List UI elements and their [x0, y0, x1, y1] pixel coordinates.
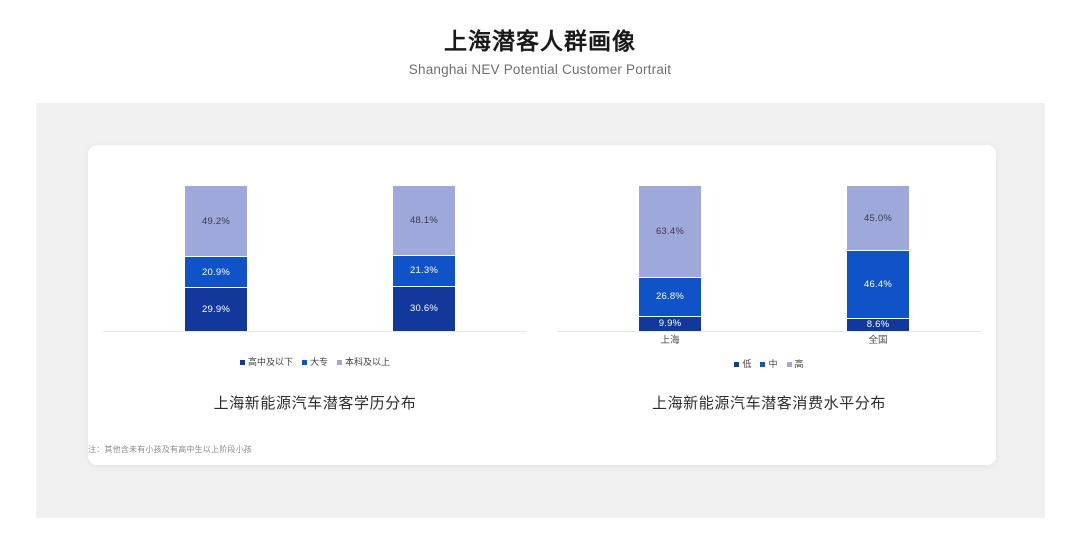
legend-swatch-icon [760, 362, 765, 367]
bar-stack[interactable]: 63.4% 26.8% 9.9% [639, 186, 701, 331]
x-axis-label: 上海 [639, 334, 701, 348]
chart-consumption: 63.4% 26.8% 9.9% 45.0% [542, 145, 996, 465]
x-axis-labels: 上海 全国 [557, 334, 981, 350]
bar-value-label: 20.9% [202, 267, 230, 278]
bar-stack[interactable]: 45.0% 46.4% 8.6% [847, 186, 909, 331]
bar-segment[interactable]: 29.9% [185, 288, 247, 331]
chart-education: 49.2% 20.9% 29.9% 48.1% [88, 145, 542, 465]
bar-segment[interactable]: 49.2% [185, 186, 247, 257]
legend-item[interactable]: 低 [734, 359, 751, 370]
bar-segment[interactable]: 8.6% [847, 319, 909, 331]
bar-segment[interactable]: 21.3% [393, 256, 455, 287]
legend-label: 本科及以上 [345, 357, 390, 368]
bar-value-label: 45.0% [864, 213, 892, 224]
bar-segment[interactable]: 63.4% [639, 186, 701, 278]
bar-value-label: 30.6% [410, 303, 438, 314]
bar-segment[interactable]: 30.6% [393, 287, 455, 331]
bar-value-label: 26.8% [656, 291, 684, 302]
bar-value-label: 49.2% [202, 216, 230, 227]
legend-label: 高 [795, 359, 804, 370]
plot-area-consumption: 63.4% 26.8% 9.9% 45.0% [557, 187, 981, 332]
bar-segment[interactable]: 20.9% [185, 257, 247, 287]
page-header: 上海潜客人群画像 Shanghai NEV Potential Customer… [0, 26, 1080, 79]
legend-swatch-icon [787, 362, 792, 367]
legend-swatch-icon [337, 360, 342, 365]
x-axis-line [557, 331, 981, 332]
bar-value-label: 29.9% [202, 304, 230, 315]
plot-area-education: 49.2% 20.9% 29.9% 48.1% [103, 187, 527, 332]
legend-item[interactable]: 中 [760, 359, 777, 370]
bar-value-label: 46.4% [864, 279, 892, 290]
x-axis-labels [103, 334, 527, 350]
legend-label: 大专 [310, 357, 328, 368]
chart-caption-consumption: 上海新能源汽车潜客消费水平分布 [542, 393, 996, 415]
legend-item[interactable]: 本科及以上 [337, 357, 390, 368]
legend-swatch-icon [734, 362, 739, 367]
bar-value-label: 9.9% [659, 318, 681, 329]
charts-row: 49.2% 20.9% 29.9% 48.1% [88, 145, 996, 465]
bar-stack[interactable]: 49.2% 20.9% 29.9% [185, 186, 247, 331]
legend-item[interactable]: 高中及以下 [240, 357, 293, 368]
bar-segment[interactable]: 26.8% [639, 278, 701, 317]
bar-value-label: 21.3% [410, 265, 438, 276]
page-subtitle: Shanghai NEV Potential Customer Portrait [0, 61, 1080, 79]
legend-label: 中 [768, 359, 777, 370]
chart-caption-education: 上海新能源汽车潜客学历分布 [88, 393, 542, 415]
chart-footnote: 注：其他含未有小孩及有高中生以上阶段小孩 [88, 444, 252, 456]
screenshot-root: 上海潜客人群画像 Shanghai NEV Potential Customer… [0, 0, 1080, 547]
bar-stack[interactable]: 48.1% 21.3% 30.6% [393, 186, 455, 331]
chart-legend-consumption: 低 中 高 [542, 359, 996, 370]
legend-item[interactable]: 高 [787, 359, 804, 370]
bar-value-label: 48.1% [410, 215, 438, 226]
bar-value-label: 8.6% [867, 319, 889, 330]
legend-item[interactable]: 大专 [302, 357, 328, 368]
charts-card: 49.2% 20.9% 29.9% 48.1% [88, 145, 996, 465]
chart-legend-education: 高中及以下 大专 本科及以上 [88, 357, 542, 368]
x-axis-label: 全国 [847, 334, 909, 348]
bar-value-label: 63.4% [656, 226, 684, 237]
bar-segment[interactable]: 45.0% [847, 186, 909, 251]
legend-swatch-icon [240, 360, 245, 365]
bar-segment[interactable]: 48.1% [393, 186, 455, 256]
legend-label: 低 [742, 359, 751, 370]
page-title: 上海潜客人群画像 [0, 26, 1080, 56]
bar-segment[interactable]: 46.4% [847, 251, 909, 318]
legend-label: 高中及以下 [248, 357, 293, 368]
x-axis-line [103, 331, 527, 332]
legend-swatch-icon [302, 360, 307, 365]
bar-segment[interactable]: 9.9% [639, 317, 701, 331]
